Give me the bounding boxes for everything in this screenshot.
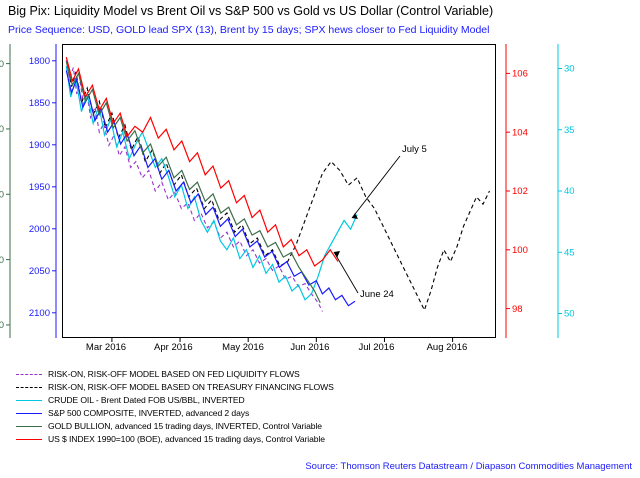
x-axis-tick-labels: Mar 2016Apr 2016May 2016Jun 2016Jul 2016… (0, 342, 640, 356)
legend-item: US $ INDEX 1990=100 (BOE), advanced 15 t… (16, 433, 486, 445)
legend-label: S&P 500 COMPOSITE, INVERTED, advanced 2 … (48, 408, 249, 418)
legend-item: RISK-ON, RISK-OFF MODEL BASED ON FED LIQ… (16, 368, 486, 380)
legend: RISK-ON, RISK-OFF MODEL BASED ON FED LIQ… (16, 368, 486, 446)
brent-axis-tick-label: 35 (564, 125, 575, 136)
usd-axis-tick-label: 98 (512, 304, 523, 315)
x-tick-label: May 2016 (222, 342, 264, 353)
brent-axis-tick-label: 30 (564, 64, 575, 75)
legend-item: CRUDE OIL - Brent Dated FOB US/BBL, INVE… (16, 394, 486, 406)
page-title: Big Pix: Liquidity Model vs Brent Oil vs… (8, 4, 493, 18)
chart-subtitle: Price Sequence: USD, GOLD lead SPX (13),… (8, 24, 489, 36)
legend-swatch (16, 413, 42, 414)
usd-axis-tick-label: 106 (512, 69, 528, 80)
usd-axis-tick-label: 102 (512, 186, 528, 197)
brent-axis-tick-label: 45 (564, 247, 575, 258)
x-tick-label: Apr 2016 (154, 342, 193, 353)
source-note: Source: Thomson Reuters Datastream / Dia… (305, 461, 632, 472)
chart-page: Big Pix: Liquidity Model vs Brent Oil vs… (0, 0, 640, 478)
brent-axis-tick-label: 50 (564, 309, 575, 320)
legend-item: RISK-ON, RISK-OFF MODEL BASED ON TREASUR… (16, 381, 486, 393)
legend-swatch (16, 400, 42, 401)
legend-swatch (16, 387, 42, 388)
legend-label: RISK-ON, RISK-OFF MODEL BASED ON FED LIQ… (48, 369, 300, 379)
plot-area (62, 44, 496, 338)
axis-usd-axis: 10610410210098 (506, 44, 528, 338)
legend-label: RISK-ON, RISK-OFF MODEL BASED ON TREASUR… (48, 382, 334, 392)
x-tick-label: Jun 2016 (290, 342, 329, 353)
legend-label: US $ INDEX 1990=100 (BOE), advanced 15 t… (48, 434, 325, 444)
legend-item: S&P 500 COMPOSITE, INVERTED, advanced 2 … (16, 407, 486, 419)
legend-swatch (16, 426, 42, 427)
x-tick-label: Mar 2016 (86, 342, 126, 353)
legend-swatch (16, 374, 42, 375)
legend-label: GOLD BULLION, advanced 15 trading days, … (48, 421, 322, 431)
x-tick-label: Aug 2016 (427, 342, 468, 353)
usd-axis-tick-label: 104 (512, 127, 528, 138)
left-axes (0, 44, 60, 340)
x-tick-label: Jul 2016 (358, 342, 394, 353)
axis-brent-axis: 3035404550 (558, 44, 575, 338)
usd-axis-tick-label: 100 (512, 245, 528, 256)
legend-label: CRUDE OIL - Brent Dated FOB US/BBL, INVE… (48, 395, 245, 405)
legend-swatch (16, 439, 42, 440)
legend-item: GOLD BULLION, advanced 15 trading days, … (16, 420, 486, 432)
brent-axis-tick-label: 40 (564, 186, 575, 197)
